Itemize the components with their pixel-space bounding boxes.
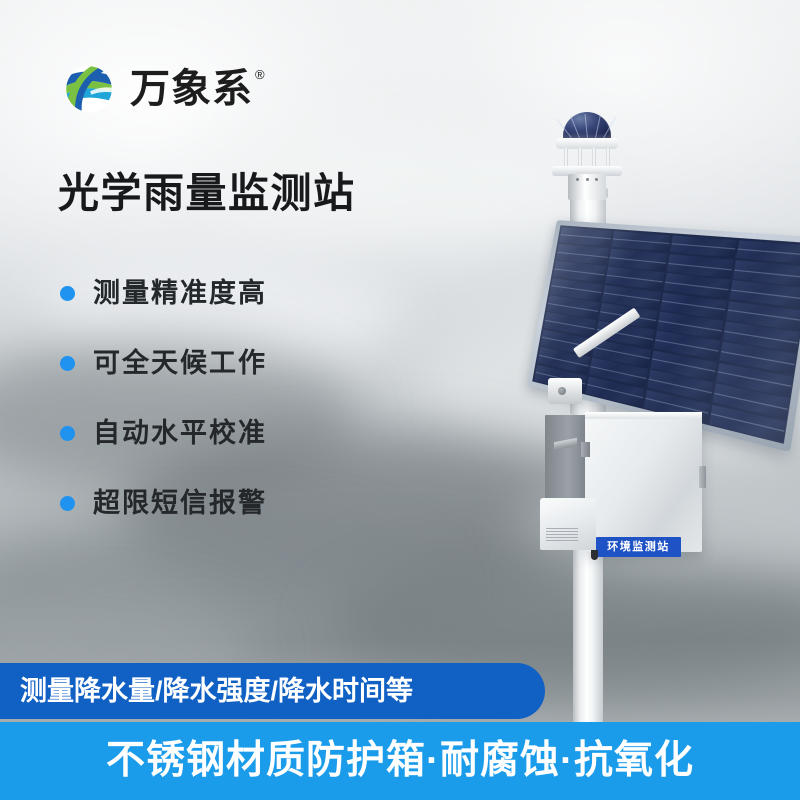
cabinet-hinge bbox=[581, 442, 590, 457]
list-item: 可全天候工作 bbox=[60, 328, 390, 398]
registered-trademark-icon: ® bbox=[255, 68, 265, 81]
optical-rain-sensor bbox=[550, 112, 624, 196]
sensor-legs bbox=[564, 148, 610, 168]
list-item: 测量精准度高 bbox=[60, 258, 390, 328]
bracket-bolt bbox=[558, 387, 566, 395]
bottom-banner: 不锈钢材质防护箱·耐腐蚀·抗氧化 bbox=[0, 722, 800, 800]
feature-list: 测量精准度高 可全天候工作 自动水平校准 超限短信报警 bbox=[60, 258, 390, 538]
cabinet-connector bbox=[591, 550, 598, 560]
bullet-dot-icon bbox=[60, 426, 75, 441]
globe-swirl-icon bbox=[60, 60, 118, 118]
bullet-dot-icon bbox=[60, 356, 75, 371]
bullet-dot-icon bbox=[60, 286, 75, 301]
feature-label: 测量精准度高 bbox=[93, 277, 267, 309]
page-title: 光学雨量监测站 bbox=[58, 168, 356, 218]
list-item: 超限短信报警 bbox=[60, 468, 390, 538]
product-image: 环境监测站 bbox=[440, 90, 800, 730]
cabinet-latch bbox=[699, 466, 706, 488]
feature-label: 自动水平校准 bbox=[93, 417, 267, 449]
cabinet-front-door bbox=[585, 412, 702, 552]
feature-banner-text: 测量降水量/降水强度/降水时间等 bbox=[20, 675, 413, 707]
bullet-dot-icon bbox=[60, 496, 75, 511]
cabinet-vent-grill bbox=[546, 528, 578, 543]
feature-label: 可全天候工作 bbox=[93, 347, 267, 379]
feature-label: 超限短信报警 bbox=[93, 487, 267, 519]
enclosure-label-text: 环境监测站 bbox=[607, 541, 670, 553]
product-poster: 万象系 ® 光学雨量监测站 测量精准度高 可全天候工作 自动水平校准 超限短信报… bbox=[0, 0, 800, 800]
feature-banner: 测量降水量/降水强度/降水时间等 bbox=[0, 663, 545, 719]
bottom-banner-text: 不锈钢材质防护箱·耐腐蚀·抗氧化 bbox=[106, 738, 694, 784]
list-item: 自动水平校准 bbox=[60, 398, 390, 468]
brand-logo: 万象系 ® bbox=[60, 58, 265, 120]
brand-name: 万象系 bbox=[130, 66, 253, 112]
sensor-screws bbox=[576, 178, 598, 183]
sensor-dome-icon bbox=[563, 112, 611, 139]
enclosure-label: 环境监测站 bbox=[596, 537, 681, 557]
